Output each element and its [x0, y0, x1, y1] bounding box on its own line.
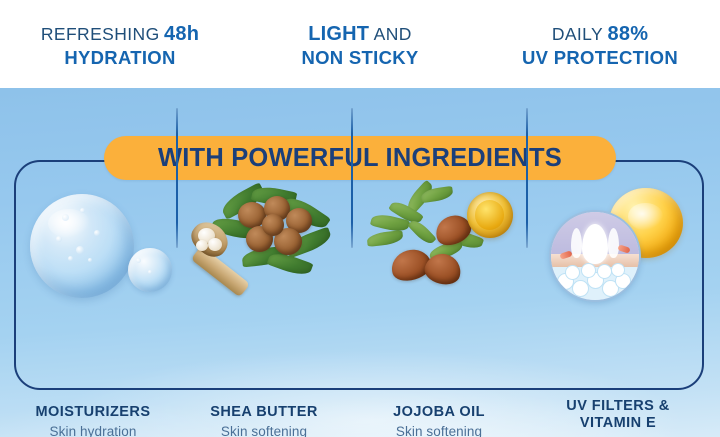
caption-subtitle: Skin hydration: [10, 424, 176, 437]
claim-uv-prefix: DAILY: [552, 24, 603, 44]
sparkle-icon: [56, 236, 62, 242]
product-benefits-infographic: REFRESHING 48h HYDRATION LIGHT AND NON S…: [0, 0, 720, 437]
leaf-icon: [366, 230, 403, 247]
uv-filters-icon: [535, 186, 700, 312]
sparkle-icon: [136, 258, 141, 263]
claim-light-line1: LIGHT AND: [240, 22, 480, 47]
ingredient-columns: [14, 184, 704, 384]
claim-hydration-value: 48h: [164, 23, 199, 45]
claim-hydration-line2: HYDRATION: [0, 47, 240, 70]
headline-text: WITH POWERFUL INGREDIENTS: [158, 144, 562, 173]
oil-dish-icon: [467, 192, 513, 238]
caption-title-line2: VITAMIN E: [528, 415, 708, 432]
caption-subtitle: Skin softening: [178, 424, 350, 437]
jojoba-oil-icon: [363, 186, 528, 312]
water-droplets-icon: [18, 186, 183, 312]
claim-light-conjunction: AND: [374, 24, 412, 44]
sparkle-icon: [148, 270, 152, 274]
caption-subtitle: Skin softening: [354, 424, 524, 437]
caption-shea-butter: SHEA BUTTER Skin softening: [178, 404, 350, 437]
ingredient-item-moisturizers: [14, 184, 187, 384]
sparkle-icon: [76, 246, 84, 254]
claim-light-non-sticky: LIGHT AND NON STICKY: [240, 18, 480, 70]
ingredients-panel: WITH POWERFUL INGREDIENTS: [0, 88, 720, 437]
caption-title: MOISTURIZERS: [10, 404, 176, 421]
claim-hydration-line1: REFRESHING 48h: [0, 22, 240, 47]
caption-jojoba-oil: JOJOBA OIL Skin softening: [354, 404, 524, 437]
caption-title: SHEA BUTTER: [178, 404, 350, 421]
claim-hydration: REFRESHING 48h HYDRATION: [0, 18, 240, 70]
ingredient-item-uv-filters: [532, 184, 705, 384]
claim-uv-line1: DAILY 88%: [480, 22, 720, 47]
sparkle-icon: [68, 256, 73, 261]
claim-uv-protection: DAILY 88% UV PROTECTION: [480, 18, 720, 70]
claims-band: REFRESHING 48h HYDRATION LIGHT AND NON S…: [0, 0, 720, 88]
claim-light-value: LIGHT: [308, 23, 369, 45]
sparkle-icon: [88, 258, 92, 262]
caption-title: JOJOBA OIL: [354, 404, 524, 421]
ingredient-item-shea-butter: [187, 184, 360, 384]
claim-light-line2: NON STICKY: [240, 47, 480, 70]
caption-uv-filters: UV FILTERS & VITAMIN E Skin cells protec…: [528, 398, 708, 437]
sparkle-icon: [80, 208, 85, 213]
claim-uv-value: 88%: [608, 23, 649, 45]
skin-cross-section-icon: [549, 210, 641, 302]
claim-hydration-prefix: REFRESHING: [41, 24, 160, 44]
caption-moisturizers: MOISTURIZERS Skin hydration: [10, 404, 176, 437]
shea-butter-icon: [190, 186, 355, 312]
leaf-icon: [407, 217, 436, 247]
headline-pill: WITH POWERFUL INGREDIENTS: [104, 136, 616, 180]
claim-uv-line2: UV PROTECTION: [480, 47, 720, 70]
ingredient-item-jojoba-oil: [359, 184, 532, 384]
caption-title-line1: UV FILTERS &: [528, 398, 708, 415]
sparkle-icon: [62, 214, 69, 221]
sparkle-icon: [94, 230, 100, 236]
